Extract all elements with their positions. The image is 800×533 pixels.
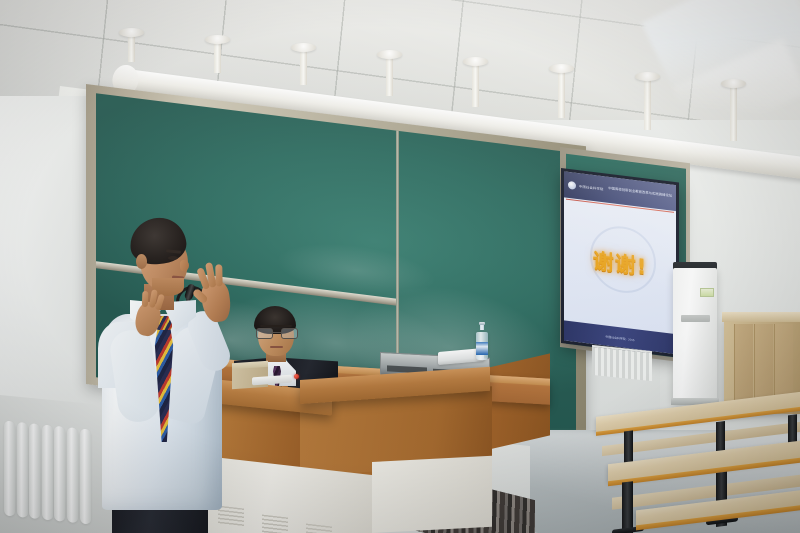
slide-body: 谢谢!	[564, 201, 676, 325]
radiator-column	[67, 427, 78, 523]
hanger-ceiling-plate	[291, 43, 316, 52]
light-hanger-rod	[300, 49, 307, 85]
projection-screen-surface: 中国社会科学院 中国高校创新创业教育改革与实践高峰论坛 谢谢! 中国社会科学院 …	[564, 171, 676, 354]
eyeglasses-icon	[256, 328, 296, 337]
slide-thanks-text: 谢谢!	[593, 245, 648, 282]
lapel-pin-icon	[294, 374, 299, 379]
air-conditioner-vent	[681, 315, 710, 322]
standing-speaker	[96, 218, 256, 533]
radiator-column	[29, 423, 40, 519]
seated-brow	[260, 325, 292, 327]
light-hanger-rod	[386, 56, 393, 96]
light-hanger-rod	[128, 34, 135, 62]
wall-radiator	[592, 345, 652, 381]
radiator-column	[17, 422, 28, 518]
column-radiator	[0, 420, 92, 525]
light-hanger-rod	[214, 41, 221, 73]
floor-standing-air-conditioner[interactable]	[673, 268, 717, 403]
hanger-ceiling-plate	[119, 28, 144, 37]
finger	[142, 291, 149, 307]
eyeglass-bridge	[271, 332, 281, 333]
hanger-ceiling-plate	[463, 57, 488, 66]
slide-organization-name: 中国社会科学院	[579, 184, 603, 192]
eyeglass-lens-right	[281, 328, 298, 339]
slide-footer-text: 中国社会科学院 · 2015	[605, 334, 634, 342]
bottle-cap	[479, 322, 485, 325]
desk-leg	[622, 481, 633, 533]
light-hanger-rod	[558, 70, 565, 118]
finger	[215, 264, 222, 286]
organization-logo-icon	[568, 181, 576, 190]
radiator-column	[4, 420, 15, 516]
light-hanger-rod	[730, 85, 737, 141]
hanger-ceiling-plate	[377, 50, 402, 59]
eyeglass-lens-left	[256, 328, 273, 339]
speaker-ear	[136, 254, 147, 269]
speaker-nose	[180, 260, 189, 271]
radiator-column	[42, 424, 53, 520]
light-hanger-rod	[644, 78, 651, 130]
side-lectern-top	[722, 312, 800, 322]
cabinet-vent	[306, 524, 332, 533]
hanger-ceiling-plate	[721, 79, 746, 88]
lecture-hall-photo: 中国社会科学院 中国高校创新创业教育改革与实践高峰论坛 谢谢! 中国社会科学院 …	[0, 0, 800, 533]
radiator-column	[54, 426, 65, 522]
cabinet-vent	[262, 515, 288, 533]
equipment-cabinet-right	[372, 456, 492, 533]
radiator-column	[80, 428, 91, 524]
bottle-label	[476, 342, 488, 355]
energy-label-badge	[700, 288, 714, 297]
speaker-eye	[168, 256, 178, 260]
water-bottle-back	[476, 322, 488, 360]
light-hanger-rod	[472, 63, 479, 107]
hanger-ceiling-plate	[635, 72, 660, 81]
projection-screen[interactable]: 中国社会科学院 中国高校创新创业教育改革与实践高峰论坛 谢谢! 中国社会科学院 …	[561, 168, 679, 357]
